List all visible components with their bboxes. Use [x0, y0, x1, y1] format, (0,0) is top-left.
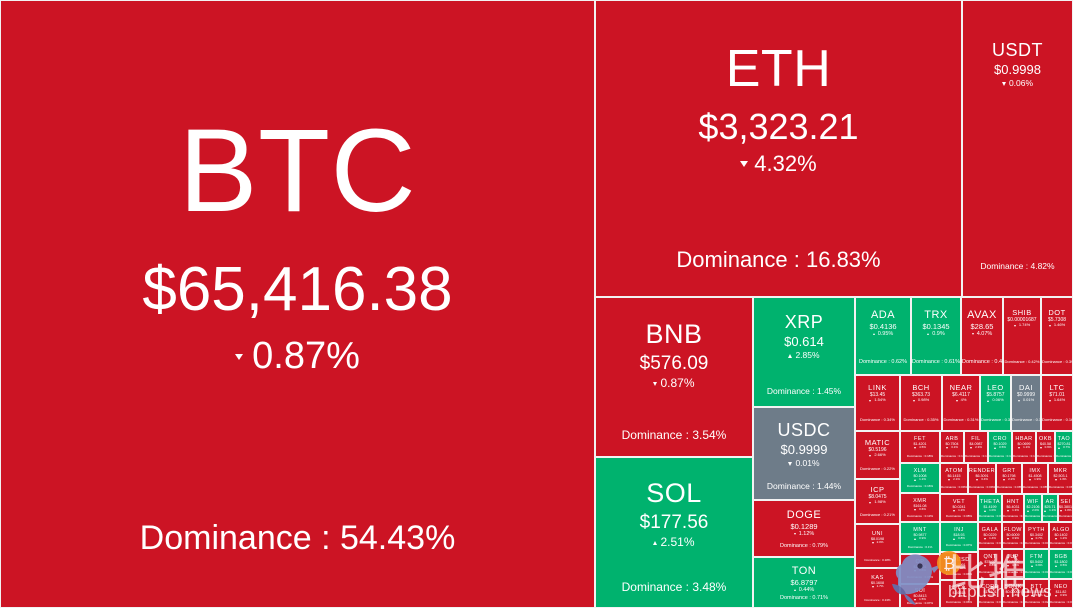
tile-change: 2.0% — [1027, 509, 1039, 512]
treemap-tile-xrp[interactable]: XRP$0.6142.85%Dominance : 1.45% — [753, 297, 855, 407]
caret-down-icon — [976, 479, 978, 481]
caret-down-icon — [1049, 400, 1051, 402]
tile-change-value: 1.1% — [1023, 446, 1030, 449]
tile-change: 0.06% — [1002, 79, 1033, 89]
tile-change-value: 0.7% — [1063, 446, 1070, 449]
caret-down-icon — [1007, 595, 1009, 597]
treemap-tile-fil[interactable]: FIL$4.09872.3%Dominance : 0.12% — [964, 431, 988, 463]
tile-price: $0.614 — [784, 335, 824, 350]
tile-symbol: TON — [792, 565, 817, 578]
tile-dominance: Dominance : 3.48% — [596, 581, 752, 595]
tile-change-value: 0.9% — [919, 537, 926, 540]
caret-down-icon — [1002, 82, 1006, 86]
tile-change-value: 0.01% — [795, 459, 819, 469]
treemap-tile-hbar[interactable]: HBAR$0.06991.1%Dominance : 0.1% — [1012, 431, 1036, 463]
treemap-tile-sol[interactable]: SOL$177.562.51%Dominance : 3.48% — [595, 457, 753, 608]
tile-change: 2.3% — [970, 446, 982, 449]
treemap-tile-matic[interactable]: MATIC$0.51962.66%Dominance : 0.22% — [855, 431, 900, 479]
tile-dominance: Dominance : 0.18% — [901, 455, 939, 458]
tile-change: 4% — [956, 398, 967, 403]
tile-dominance: Dominance : 0.04% — [1025, 542, 1048, 545]
tile-change: 1.7% — [872, 585, 884, 588]
tile-dominance: Dominance : 0.35% — [901, 418, 941, 423]
tile-dominance: Dominance : 0.02% — [1003, 601, 1023, 604]
tile-change: 1.54% — [869, 398, 885, 403]
caret-down-icon — [952, 568, 954, 570]
caret-up-icon — [994, 447, 996, 449]
treemap-tile-vet[interactable]: VET$0.02411.2%Dominance : 0.08% — [940, 494, 978, 522]
caret-down-icon — [984, 565, 986, 567]
tile-change-value: 0.5% — [1060, 564, 1067, 567]
tile-symbol: AVAX — [967, 309, 997, 322]
treemap-tile-core[interactable]: CORE$1.21011.0%Dominance : 0.02% — [978, 579, 1002, 608]
tile-dominance: Dominance : 0.12% — [965, 455, 987, 458]
tile-change-value: 1.2% — [958, 509, 965, 512]
tile-change-value: 2.51% — [660, 536, 694, 550]
tile-change-value: 0.6% — [919, 508, 926, 511]
caret-down-icon — [948, 479, 950, 481]
tile-change: 0.87% — [653, 377, 694, 391]
tile-dominance: Dominance : 0.08% — [1049, 486, 1072, 489]
treemap-tile-doge[interactable]: DOGE$0.12891.12%Dominance : 0.79% — [753, 500, 855, 557]
treemap-tile-inj[interactable]: INJ$18.930.8%Dominance : 0.07% — [940, 522, 978, 552]
caret-up-icon — [1044, 510, 1046, 512]
tile-change-value: 2.2% — [1008, 478, 1015, 481]
tile-change-value: 0.5% — [999, 446, 1006, 449]
tile-change: 1.64% — [1049, 398, 1065, 403]
tile-dominance: Dominance : 0.13% — [856, 599, 899, 602]
tile-symbol: USDT — [992, 40, 1043, 61]
tile-symbol: USDC — [777, 420, 830, 441]
tile-change-value: 1.0% — [989, 594, 996, 597]
tile-change-value: 1.0% — [1065, 509, 1072, 512]
caret-down-icon — [914, 570, 916, 572]
tile-dominance: Dominance : 0.03% — [1050, 571, 1072, 574]
tile-dominance: Dominance : 0.16% — [1042, 418, 1072, 423]
tile-change: 0.06% — [987, 398, 1003, 403]
tile-change-value: 0.98% — [918, 398, 929, 403]
tile-change: 0.6% — [914, 508, 926, 511]
tile-dominance: Dominance : 0.16% — [901, 485, 939, 488]
tile-change-value: 1.3% — [1060, 478, 1067, 481]
tile-change: 2.5% — [953, 595, 965, 598]
tile-change-value: 0.9% — [1036, 564, 1043, 567]
tile-change-value: 0.02% — [957, 567, 966, 570]
tile-change-value: 1.5% — [1012, 564, 1019, 567]
tile-change-value: 2.0% — [1032, 509, 1039, 512]
tile-dominance: Dominance : 0.03% — [1003, 571, 1023, 574]
tile-change: 0.9% — [1055, 594, 1067, 597]
treemap-tile-ar[interactable]: AR$25.711.1%Dominance : 0.05% — [1042, 494, 1058, 522]
tile-change-value: 1.1% — [919, 478, 926, 481]
tile-change: 0.5% — [1055, 564, 1067, 567]
treemap-tile-gala[interactable]: GALA$0.02291.4%Dominance : 0.04% — [978, 522, 1002, 549]
treemap-tile-hnt[interactable]: HNT$6.40311.3%Dominance : 0.05% — [1002, 494, 1024, 522]
treemap-tile-xlm[interactable]: XLM$0.10081.1%Dominance : 0.16% — [900, 463, 940, 493]
caret-down-icon — [1055, 538, 1057, 540]
tile-dominance: Dominance : 0.09% — [969, 486, 995, 489]
caret-down-icon — [946, 447, 948, 449]
caret-down-icon — [1031, 595, 1033, 597]
tile-change-value: 4.5% — [919, 446, 926, 449]
treemap-tile-leo[interactable]: LEO$5.87570.06%Dominance : 0.3% — [980, 375, 1011, 431]
caret-down-icon — [794, 533, 796, 535]
treemap-tile-kas[interactable]: KAS$0.16081.7%Dominance : 0.13% — [855, 568, 900, 608]
treemap-tile-wif[interactable]: WIF$2.21062.0%Dominance : 0.05% — [1024, 494, 1042, 522]
tile-dominance: Dominance : 0.15% — [1012, 418, 1040, 423]
caret-down-icon — [1055, 479, 1057, 481]
tile-price: $0.1345 — [922, 323, 949, 332]
treemap-tile-fet[interactable]: FET$1.42014.5%Dominance : 0.18% — [900, 431, 940, 463]
tile-change: 1.5% — [1007, 564, 1019, 567]
caret-down-icon — [1007, 565, 1009, 567]
treemap-tile-bonk[interactable]: BONK$0.000021.8%Dominance : 0.02% — [1002, 579, 1024, 608]
tile-change: 4.5% — [914, 446, 926, 449]
treemap-tile-imx[interactable]: IMX$1.45081.9%Dominance : 0.08% — [1022, 463, 1048, 494]
tile-dominance: Dominance : 0.48% — [962, 359, 1002, 365]
tile-dominance: Dominance : 0.02% — [1025, 601, 1048, 604]
tile-change: 1.3% — [1055, 478, 1067, 481]
tile-change-value: 2.0% — [877, 541, 884, 544]
treemap-tile-ton[interactable]: TON$6.87970.44%Dominance : 0.71% — [753, 557, 855, 608]
tile-symbol: BTC — [179, 104, 417, 240]
tile-change-value: 4% — [961, 398, 967, 403]
tile-change: 1.98% — [869, 500, 885, 505]
treemap-tile-render[interactable]: RENDER$6.30913.4%Dominance : 0.09% — [968, 463, 996, 494]
treemap-tile-mnt[interactable]: MNT$0.98770.9%Dominance : 0.1% — [900, 522, 940, 554]
caret-down-icon — [869, 400, 871, 402]
tile-dominance: Dominance : 0.04% — [1003, 542, 1023, 545]
tile-change: 0.9% — [1040, 446, 1052, 449]
tile-change-value: 1.3% — [1012, 509, 1019, 512]
tile-price: $3,323.21 — [698, 106, 858, 147]
tile-dominance: Dominance : 0.42% — [1004, 360, 1040, 365]
treemap-tile-xmr[interactable]: XMR$161.080.6%Dominance : 0.13% — [900, 493, 940, 522]
caret-up-icon — [1055, 565, 1057, 567]
treemap-tile-atom[interactable]: ATOM$6.14152.1%Dominance : 0.09% — [940, 463, 968, 494]
tile-dominance: Dominance : 1.44% — [754, 482, 854, 492]
tile-change-value: 4.07% — [977, 331, 993, 337]
tile-dominance: Dominance : 0.08% — [901, 576, 939, 579]
tile-dominance: Dominance : 0.22% — [856, 467, 899, 472]
tile-price: $576.09 — [640, 353, 709, 375]
tile-change-value: 2.85% — [795, 351, 819, 361]
tile-dominance: Dominance : 0.02% — [1050, 601, 1072, 604]
caret-down-icon — [1055, 595, 1057, 597]
tile-dominance: Dominance : 0.61% — [912, 359, 960, 365]
tile-change-value: 4.32% — [754, 151, 816, 176]
tile-dominance: Dominance : 0.71% — [754, 595, 854, 601]
caret-up-icon — [653, 541, 657, 545]
tile-dominance: Dominance : 54.43% — [1, 519, 594, 558]
treemap-tile-algo[interactable]: ALGO$0.14021.2%Dominance : 0.03% — [1049, 522, 1073, 549]
treemap-tile-ltc[interactable]: LTC$71.011.64%Dominance : 0.16% — [1041, 375, 1073, 431]
tile-change: 2.2% — [1003, 478, 1015, 481]
tile-change-value: 0.6% — [1036, 594, 1043, 597]
caret-down-icon — [953, 596, 955, 598]
tile-dominance: Dominance : 0.07% — [901, 602, 939, 605]
tile-price: $0.4136 — [869, 323, 896, 332]
tile-change: 2.66% — [869, 453, 885, 458]
treemap-tile-btt[interactable]: BTT$0.00000090.6%Dominance : 0.02% — [1024, 579, 1049, 608]
tile-price: $0.1289 — [790, 523, 817, 532]
caret-down-icon — [1018, 400, 1020, 402]
tile-change: 0.87% — [235, 335, 360, 379]
caret-down-icon — [914, 509, 916, 511]
tile-dominance: Dominance : 0.08% — [1023, 486, 1047, 489]
tile-change: 0.9% — [927, 331, 945, 337]
caret-down-icon — [1007, 538, 1009, 540]
tile-dominance: Dominance : 0.04% — [1059, 515, 1072, 518]
tile-dominance: Dominance : 0.1% — [1037, 455, 1054, 458]
tile-dominance: Dominance : 0.1% — [1013, 455, 1035, 458]
caret-down-icon — [740, 161, 748, 167]
tile-dominance: Dominance : 0.62% — [856, 359, 910, 365]
tile-dominance: Dominance : 4.82% — [963, 262, 1072, 272]
tile-dominance: Dominance : 0.03% — [1050, 542, 1072, 545]
treemap-tile-qnt[interactable]: QNT$78.920.8%Dominance : 0.03% — [978, 549, 1002, 579]
tile-change: 2.1% — [948, 478, 960, 481]
caret-down-icon — [956, 400, 958, 402]
tile-symbol: SOL — [646, 478, 702, 509]
tile-change-value: 1.64% — [1054, 398, 1065, 403]
caret-down-icon — [984, 538, 986, 540]
tile-change: 2.8% — [914, 569, 926, 572]
treemap-tile-eth[interactable]: ETH$3,323.214.32%Dominance : 16.83% — [595, 0, 962, 297]
tile-price: $65,416.38 — [142, 254, 452, 325]
treemap-tile-mkr[interactable]: MKR$2,503.11.3%Dominance : 0.08% — [1048, 463, 1073, 494]
tile-change: 0.9% — [914, 537, 926, 540]
tile-dominance: Dominance : 0.21% — [856, 513, 899, 518]
tile-change-value: 1.54% — [874, 398, 885, 403]
tile-dominance: Dominance : 0.13% — [901, 515, 939, 518]
tile-dominance: Dominance : 0.05% — [1025, 515, 1041, 518]
treemap-tile-neo[interactable]: NEO$11.820.9%Dominance : 0.02% — [1049, 579, 1073, 608]
tile-change: 2.85% — [788, 351, 819, 361]
caret-down-icon — [653, 382, 657, 386]
tile-dominance: Dominance : 0.12% — [941, 455, 963, 458]
tile-dominance: Dominance : 0.11% — [989, 455, 1011, 458]
tile-dominance: Dominance : 0.03% — [979, 571, 1001, 574]
tile-change-value: 1.98% — [874, 500, 885, 505]
treemap-tile-ftm[interactable]: FTM$0.54020.9%Dominance : 0.03% — [1024, 549, 1049, 579]
tile-dominance: Dominance : 0.05% — [1043, 515, 1057, 518]
treemap-tile-shib[interactable]: SHIB$0.000016871.74%Dominance : 0.42% — [1003, 297, 1041, 375]
treemap-tile-okb[interactable]: OKB$40.580.9%Dominance : 0.1% — [1036, 431, 1055, 463]
treemap-tile-uni[interactable]: UNI$8.01982.0%Dominance : 0.18% — [855, 524, 900, 568]
tile-symbol: TRX — [924, 309, 948, 322]
caret-down-icon — [914, 447, 916, 449]
treemap-tile-sui[interactable]: SUI$0.84131.5%Dominance : 0.07% — [900, 584, 940, 608]
treemap-tile-bnb[interactable]: BNB$576.090.87%Dominance : 3.54% — [595, 297, 753, 457]
tile-change: 4.07% — [972, 331, 993, 337]
tile-dominance: Dominance : 0.39% — [1042, 360, 1072, 365]
tile-change: 0.02% — [952, 567, 966, 570]
caret-down-icon — [788, 462, 792, 466]
tile-change: 0.01% — [1018, 398, 1034, 403]
caret-up-icon — [788, 354, 792, 358]
treemap-tile-flow[interactable]: FLOW$0.60090.9%Dominance : 0.04% — [1002, 522, 1024, 549]
tile-change-value: 3.1% — [951, 446, 958, 449]
tile-change-value: 1.46% — [1054, 323, 1065, 328]
caret-down-icon — [1014, 325, 1016, 327]
tile-change-value: 0.01% — [1023, 398, 1034, 403]
tile-change-value: 0.44% — [799, 587, 815, 593]
treemap-tile-op[interactable]: OP$1.81012.8%Dominance : 0.08% — [900, 554, 940, 584]
treemap-tile-icp[interactable]: ICP$8.04751.98%Dominance : 0.21% — [855, 479, 900, 524]
tile-change: 1.12% — [794, 531, 815, 537]
tile-change: 0.44% — [794, 587, 815, 593]
tile-change: 2.51% — [653, 536, 694, 550]
tile-change-value: 0.87% — [252, 335, 360, 379]
caret-down-icon — [1031, 538, 1033, 540]
tile-change: 1.1% — [914, 478, 926, 481]
tile-change-value: 0.87% — [660, 377, 694, 391]
tile-dominance: Dominance : 0.1% — [1056, 455, 1072, 458]
caret-down-icon — [869, 455, 871, 457]
caret-down-icon — [1007, 510, 1009, 512]
treemap-tile-jup[interactable]: JUP$0.89021.5%Dominance : 0.03% — [1002, 549, 1024, 579]
treemap-tile-trx[interactable]: TRX$0.13450.9%Dominance : 0.61% — [911, 297, 961, 375]
treemap-tile-avax[interactable]: AVAX$28.654.07%Dominance : 0.48% — [961, 297, 1003, 375]
tile-change-value: 2.8% — [919, 569, 926, 572]
tile-dominance: Dominance : 0.31% — [943, 418, 979, 423]
tile-change: 1.0% — [1060, 509, 1072, 512]
tile-change: 0.6% — [1031, 594, 1043, 597]
caret-up-icon — [927, 333, 929, 335]
tile-change: 1.74% — [1014, 323, 1030, 328]
tile-change-value: 2.1% — [953, 478, 960, 481]
tile-change: 1.0% — [984, 594, 996, 597]
caret-down-icon — [953, 510, 955, 512]
tile-change: 1.8% — [1007, 594, 1019, 597]
tile-price: $0.9998 — [994, 63, 1041, 78]
caret-up-icon — [987, 400, 989, 402]
tile-change-value: 3.4% — [981, 478, 988, 481]
tile-change: 0.98% — [913, 398, 929, 403]
caret-up-icon — [873, 333, 875, 335]
tile-dominance: Dominance : 0.3% — [981, 418, 1010, 423]
caret-down-icon — [1049, 325, 1051, 327]
treemap-tile-bch[interactable]: BCH$363.730.98%Dominance : 0.35% — [900, 375, 942, 431]
tile-dominance: Dominance : 0.18% — [856, 559, 899, 562]
tile-change-value: 0.8% — [958, 537, 965, 540]
tile-change-value: 0.95% — [878, 331, 894, 337]
treemap-tile-link[interactable]: LINK$13.451.54%Dominance : 0.34% — [855, 375, 900, 431]
tile-change: 1.9% — [1029, 478, 1041, 481]
tile-change-value: 1.74% — [1019, 323, 1030, 328]
treemap-tile-theta[interactable]: THETA$1.41991.0%Dominance : 0.06% — [978, 494, 1002, 522]
tile-change: 0.7% — [1058, 446, 1070, 449]
tile-dominance: Dominance : 1.45% — [754, 387, 854, 397]
treemap-board: BTC$65,416.380.87%Dominance : 54.43%ETH$… — [0, 0, 1073, 608]
tile-change: 1.0% — [984, 509, 996, 512]
tile-price: $6.8797 — [790, 579, 817, 588]
treemap-tile-grt[interactable]: GRT$0.17982.2%Dominance : 0.08% — [996, 463, 1022, 494]
treemap-tile-dot[interactable]: DOT$5.73081.46%Dominance : 0.39% — [1041, 297, 1073, 375]
treemap-tile-btc[interactable]: BTC$65,416.380.87%Dominance : 54.43% — [0, 0, 595, 608]
caret-down-icon — [235, 354, 243, 360]
caret-up-icon — [953, 538, 955, 540]
treemap-tile-stx[interactable]: STX$1.66182.5%Dominance : 0.06% — [940, 580, 978, 608]
tile-dominance: Dominance : 0.05% — [1003, 515, 1023, 518]
tile-change: 4.32% — [740, 151, 816, 176]
treemap-tile-sei[interactable]: SEI$0.38011.0%Dominance : 0.04% — [1058, 494, 1073, 522]
caret-up-icon — [984, 510, 986, 512]
treemap-tile-fdusd[interactable]: FDUSD$0.99910.02%Dominance : 0.06% — [940, 552, 978, 580]
treemap-tile-usdt[interactable]: USDT$0.99980.06%Dominance : 4.82% — [962, 0, 1073, 297]
treemap-tile-usdc[interactable]: USDC$0.99990.01%Dominance : 1.44% — [753, 407, 855, 500]
treemap-tile-bgb[interactable]: BGB$1.18020.5%Dominance : 0.03% — [1049, 549, 1073, 579]
tile-symbol: BNB — [645, 319, 702, 350]
caret-up-icon — [914, 479, 916, 481]
tile-change-value: 2.5% — [958, 595, 965, 598]
tile-symbol: ETH — [726, 40, 832, 100]
tile-change: 0.8% — [953, 537, 965, 540]
tile-dominance: Dominance : 0.79% — [754, 543, 854, 549]
treemap-tile-dai[interactable]: DAI$0.99990.01%Dominance : 0.15% — [1011, 375, 1041, 431]
caret-down-icon — [1003, 479, 1005, 481]
caret-up-icon — [794, 589, 796, 591]
tile-dominance: Dominance : 0.08% — [997, 486, 1021, 489]
tile-change-value: 1.12% — [799, 531, 815, 537]
tile-symbol: XRP — [785, 312, 824, 333]
tile-change: 1.46% — [1049, 323, 1065, 328]
tile-price: $177.56 — [640, 512, 709, 534]
caret-down-icon — [970, 447, 972, 449]
tile-symbol: DOGE — [787, 509, 821, 522]
tile-change-value: 1.9% — [1034, 478, 1041, 481]
tile-change-value: 0.9% — [932, 331, 945, 337]
treemap-tile-pyth[interactable]: PYTH$0.34020.7%Dominance : 0.04% — [1024, 522, 1049, 549]
tile-dominance: Dominance : 3.54% — [596, 429, 752, 443]
tile-change-value: 0.8% — [989, 564, 996, 567]
tile-price: $28.65 — [971, 323, 994, 332]
caret-down-icon — [1060, 510, 1062, 512]
caret-down-icon — [1029, 479, 1031, 481]
tile-change: 0.01% — [788, 459, 819, 469]
tile-dominance: Dominance : 0.04% — [979, 542, 1001, 545]
tile-dominance: Dominance : 0.06% — [941, 601, 977, 604]
tile-change-value: 2.66% — [874, 453, 885, 458]
treemap-tile-tao[interactable]: TAO$270.810.7%Dominance : 0.1% — [1055, 431, 1073, 463]
tile-price: $0.9999 — [781, 443, 828, 458]
treemap-tile-cro[interactable]: CRO$0.10290.5%Dominance : 0.11% — [988, 431, 1012, 463]
tile-dominance: Dominance : 16.83% — [596, 247, 961, 272]
caret-down-icon — [872, 542, 874, 544]
tile-dominance: Dominance : 0.03% — [1025, 571, 1048, 574]
treemap-tile-arb[interactable]: ARB$0.75043.1%Dominance : 0.12% — [940, 431, 964, 463]
caret-down-icon — [1040, 447, 1042, 449]
caret-up-icon — [914, 538, 916, 540]
tile-change-value: 0.9% — [1045, 446, 1052, 449]
treemap-tile-near[interactable]: NEAR$6.41174%Dominance : 0.31% — [942, 375, 980, 431]
tile-dominance: Dominance : 0.34% — [856, 418, 899, 423]
tile-change: 3.4% — [976, 478, 988, 481]
tile-change: 1.2% — [953, 509, 965, 512]
caret-down-icon — [984, 595, 986, 597]
tile-change-value: 0.06% — [992, 398, 1003, 403]
caret-down-icon — [1018, 447, 1020, 449]
caret-down-icon — [972, 333, 974, 335]
tile-dominance: Dominance : 0.06% — [941, 573, 977, 576]
tile-change-value: 1.7% — [877, 585, 884, 588]
treemap-tile-ada[interactable]: ADA$0.41360.95%Dominance : 0.62% — [855, 297, 911, 375]
tile-change-value: 0.06% — [1009, 79, 1033, 89]
tile-change: 1.3% — [1007, 509, 1019, 512]
tile-change: 1.1% — [1018, 446, 1030, 449]
caret-down-icon — [869, 502, 871, 504]
